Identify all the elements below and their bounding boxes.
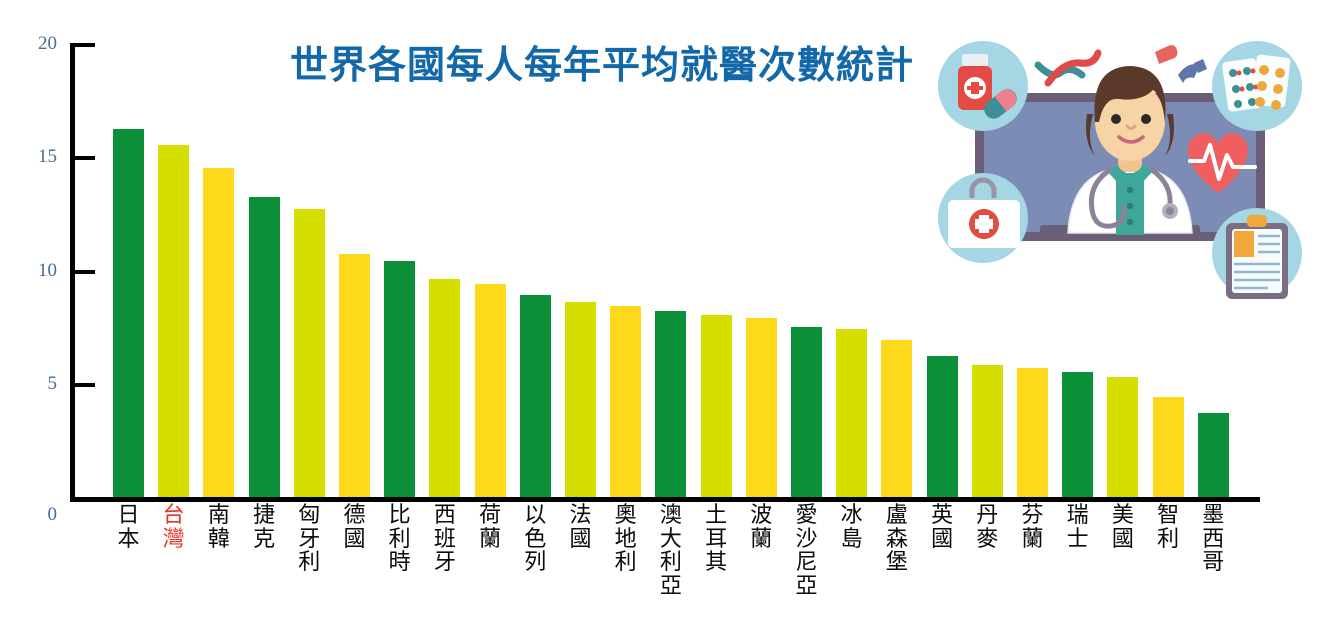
bar-墨西哥 (1198, 413, 1229, 497)
bar-瑞士 (1062, 372, 1093, 497)
x-axis-labels: 日本台灣南韓捷克匈牙利德國比利時西班牙荷蘭以色列法國奧地利澳大利亞土耳其波蘭愛沙… (70, 503, 1260, 618)
x-label-西班牙: 西班牙 (429, 503, 460, 574)
bar-冰島 (836, 329, 867, 497)
x-label-捷克: 捷克 (249, 503, 280, 550)
x-label-澳大利亞: 澳大利亞 (655, 503, 686, 597)
x-label-char: 耳 (701, 527, 732, 551)
bar-美國 (1107, 377, 1138, 497)
x-label-char: 台 (158, 503, 189, 527)
x-label-char: 其 (701, 550, 732, 574)
x-label-char: 士 (1062, 527, 1093, 551)
x-label-南韓: 南韓 (203, 503, 234, 550)
x-label-丹麥: 丹麥 (972, 503, 1003, 550)
bar-愛沙尼亞 (791, 327, 822, 497)
bar-台灣 (158, 145, 189, 497)
x-label-char: 牙 (429, 550, 460, 574)
bar-盧森堡 (881, 340, 912, 497)
doctor-telemedicine-illustration (920, 18, 1320, 310)
bar-荷蘭 (475, 284, 506, 497)
bar-英國 (927, 356, 958, 497)
x-label-char: 灣 (158, 527, 189, 551)
x-label-智利: 智利 (1153, 503, 1184, 550)
x-label-char: 牙 (294, 527, 325, 551)
x-label-char: 瑞 (1062, 503, 1093, 527)
bar-智利 (1153, 397, 1184, 497)
x-label-char: 南 (203, 503, 234, 527)
x-label-瑞士: 瑞士 (1062, 503, 1093, 550)
x-label-char: 比 (384, 503, 415, 527)
x-label-char: 荷 (475, 503, 506, 527)
x-label-char: 法 (565, 503, 596, 527)
x-label-匈牙利: 匈牙利 (294, 503, 325, 574)
bar-chart: 世界各國每人每年平均就醫次數統計 20 15 10 5 0 日本台灣南韓捷克匈牙… (0, 0, 1340, 620)
bar-奧地利 (610, 306, 641, 497)
x-label-char: 愛 (791, 503, 822, 527)
x-label-愛沙尼亞: 愛沙尼亞 (791, 503, 822, 597)
x-label-char: 匈 (294, 503, 325, 527)
x-label-char: 利 (610, 550, 641, 574)
bar-波蘭 (746, 318, 777, 497)
x-label-char: 蘭 (475, 527, 506, 551)
x-label-char: 哥 (1198, 550, 1229, 574)
x-label-以色列: 以色列 (520, 503, 551, 574)
x-label-char: 尼 (791, 550, 822, 574)
x-label-char: 以 (520, 503, 551, 527)
x-label-土耳其: 土耳其 (701, 503, 732, 574)
bar-捷克 (249, 197, 280, 497)
x-label-盧森堡: 盧森堡 (881, 503, 912, 574)
x-label-芬蘭: 芬蘭 (1017, 503, 1048, 550)
x-label-char: 芬 (1017, 503, 1048, 527)
x-label-char: 日 (113, 503, 144, 527)
bar-匈牙利 (294, 209, 325, 497)
y-tick-label: 10 (17, 261, 57, 280)
x-label-法國: 法國 (565, 503, 596, 550)
x-label-德國: 德國 (339, 503, 370, 550)
x-label-char: 本 (113, 527, 144, 551)
x-label-波蘭: 波蘭 (746, 503, 777, 550)
x-label-char: 智 (1153, 503, 1184, 527)
x-label-char: 亞 (655, 574, 686, 598)
x-label-char: 列 (520, 550, 551, 574)
x-label-char: 西 (1198, 527, 1229, 551)
x-label-char: 利 (294, 550, 325, 574)
x-label-char: 土 (701, 503, 732, 527)
x-label-char: 英 (927, 503, 958, 527)
x-label-char: 墨 (1198, 503, 1229, 527)
x-label-荷蘭: 荷蘭 (475, 503, 506, 550)
x-label-char: 波 (746, 503, 777, 527)
x-label-char: 蘭 (1017, 527, 1048, 551)
bar-德國 (339, 254, 370, 497)
x-label-char: 利 (655, 550, 686, 574)
x-label-char: 班 (429, 527, 460, 551)
x-label-char: 色 (520, 527, 551, 551)
x-label-char: 冰 (836, 503, 867, 527)
bar-法國 (565, 302, 596, 497)
x-label-char: 西 (429, 503, 460, 527)
x-label-char: 森 (881, 527, 912, 551)
bar-澳大利亞 (655, 311, 686, 497)
x-label-char: 國 (927, 527, 958, 551)
x-label-char: 時 (384, 550, 415, 574)
x-label-char: 利 (1153, 527, 1184, 551)
x-label-char: 克 (249, 527, 280, 551)
x-label-char: 島 (836, 527, 867, 551)
x-label-美國: 美國 (1107, 503, 1138, 550)
x-label-char: 丹 (972, 503, 1003, 527)
x-label-char: 德 (339, 503, 370, 527)
x-label-char: 地 (610, 527, 641, 551)
x-label-奧地利: 奧地利 (610, 503, 641, 574)
y-tick-label: 20 (17, 34, 57, 53)
bar-南韓 (203, 168, 234, 497)
bar-西班牙 (429, 279, 460, 497)
x-label-char: 捷 (249, 503, 280, 527)
x-label-char: 亞 (791, 574, 822, 598)
y-tick-label: 15 (17, 147, 57, 166)
x-label-冰島: 冰島 (836, 503, 867, 550)
x-label-char: 國 (565, 527, 596, 551)
x-label-char: 國 (339, 527, 370, 551)
x-label-char: 麥 (972, 527, 1003, 551)
bar-以色列 (520, 295, 551, 497)
x-label-char: 澳 (655, 503, 686, 527)
y-tick-label: 0 (17, 505, 57, 524)
bar-日本 (113, 129, 144, 497)
x-label-char: 沙 (791, 527, 822, 551)
x-label-char: 美 (1107, 503, 1138, 527)
x-label-台灣: 台灣 (158, 503, 189, 550)
x-label-日本: 日本 (113, 503, 144, 550)
x-label-char: 利 (384, 527, 415, 551)
x-label-墨西哥: 墨西哥 (1198, 503, 1229, 574)
x-label-char: 盧 (881, 503, 912, 527)
x-label-char: 蘭 (746, 527, 777, 551)
y-tick-label: 5 (17, 374, 57, 393)
bar-丹麥 (972, 365, 1003, 497)
bar-比利時 (384, 261, 415, 497)
x-label-char: 堡 (881, 550, 912, 574)
x-label-比利時: 比利時 (384, 503, 415, 574)
x-label-char: 奧 (610, 503, 641, 527)
x-label-英國: 英國 (927, 503, 958, 550)
x-label-char: 韓 (203, 527, 234, 551)
x-label-char: 國 (1107, 527, 1138, 551)
bar-芬蘭 (1017, 368, 1048, 497)
bar-土耳其 (701, 315, 732, 497)
x-label-char: 大 (655, 527, 686, 551)
